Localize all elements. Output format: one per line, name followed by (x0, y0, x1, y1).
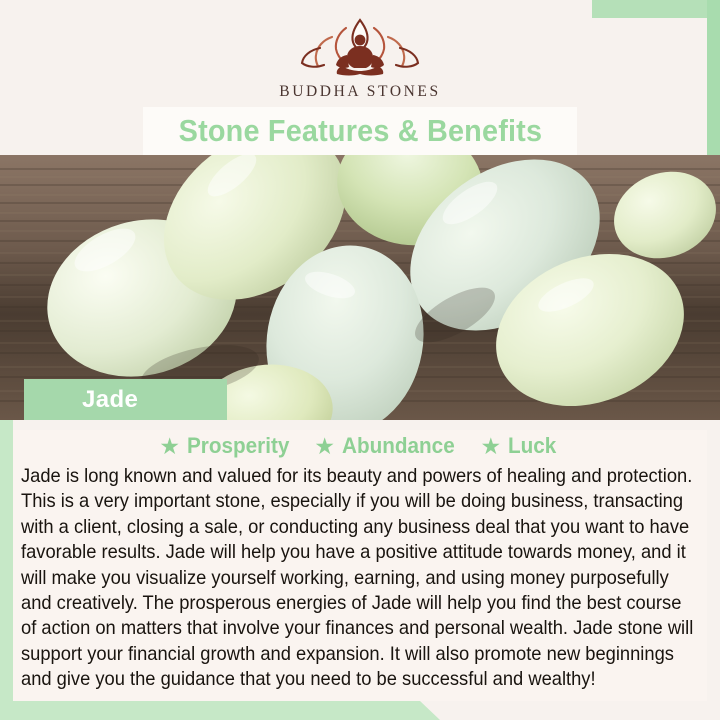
keyword-item-luck: ★ Luck (480, 433, 560, 459)
keyword-item-abundance: ★ Abundance (314, 433, 464, 459)
keyword-list: ★ Prosperity ★ Abundance ★ Luck (13, 430, 707, 462)
star-icon: ★ (480, 435, 501, 458)
decor-green-text-left-bar (0, 420, 13, 701)
stone-info-card: BUDDHA STONES Stone Features & Benefits (0, 0, 720, 720)
lotus-meditation-icon (294, 14, 426, 80)
keyword-label: Prosperity (187, 433, 289, 459)
star-icon: ★ (314, 435, 335, 458)
description-text: Jade is long known and valued for its be… (21, 464, 696, 693)
brand-name: BUDDHA STONES (279, 83, 440, 101)
description-panel: Jade is long known and valued for its be… (13, 462, 707, 701)
decor-green-bottom-bar (0, 701, 440, 720)
stone-name-label: Jade (82, 386, 138, 414)
star-icon: ★ (159, 435, 180, 458)
brand-header: BUDDHA STONES (0, 0, 720, 110)
keyword-item-prosperity: ★ Prosperity (159, 433, 298, 459)
page-title: Stone Features & Benefits (178, 113, 542, 149)
stone-name-tag: Jade (24, 379, 227, 420)
title-banner: Stone Features & Benefits (143, 107, 577, 155)
keyword-label: Luck (508, 433, 556, 459)
keyword-label: Abundance (342, 433, 455, 459)
